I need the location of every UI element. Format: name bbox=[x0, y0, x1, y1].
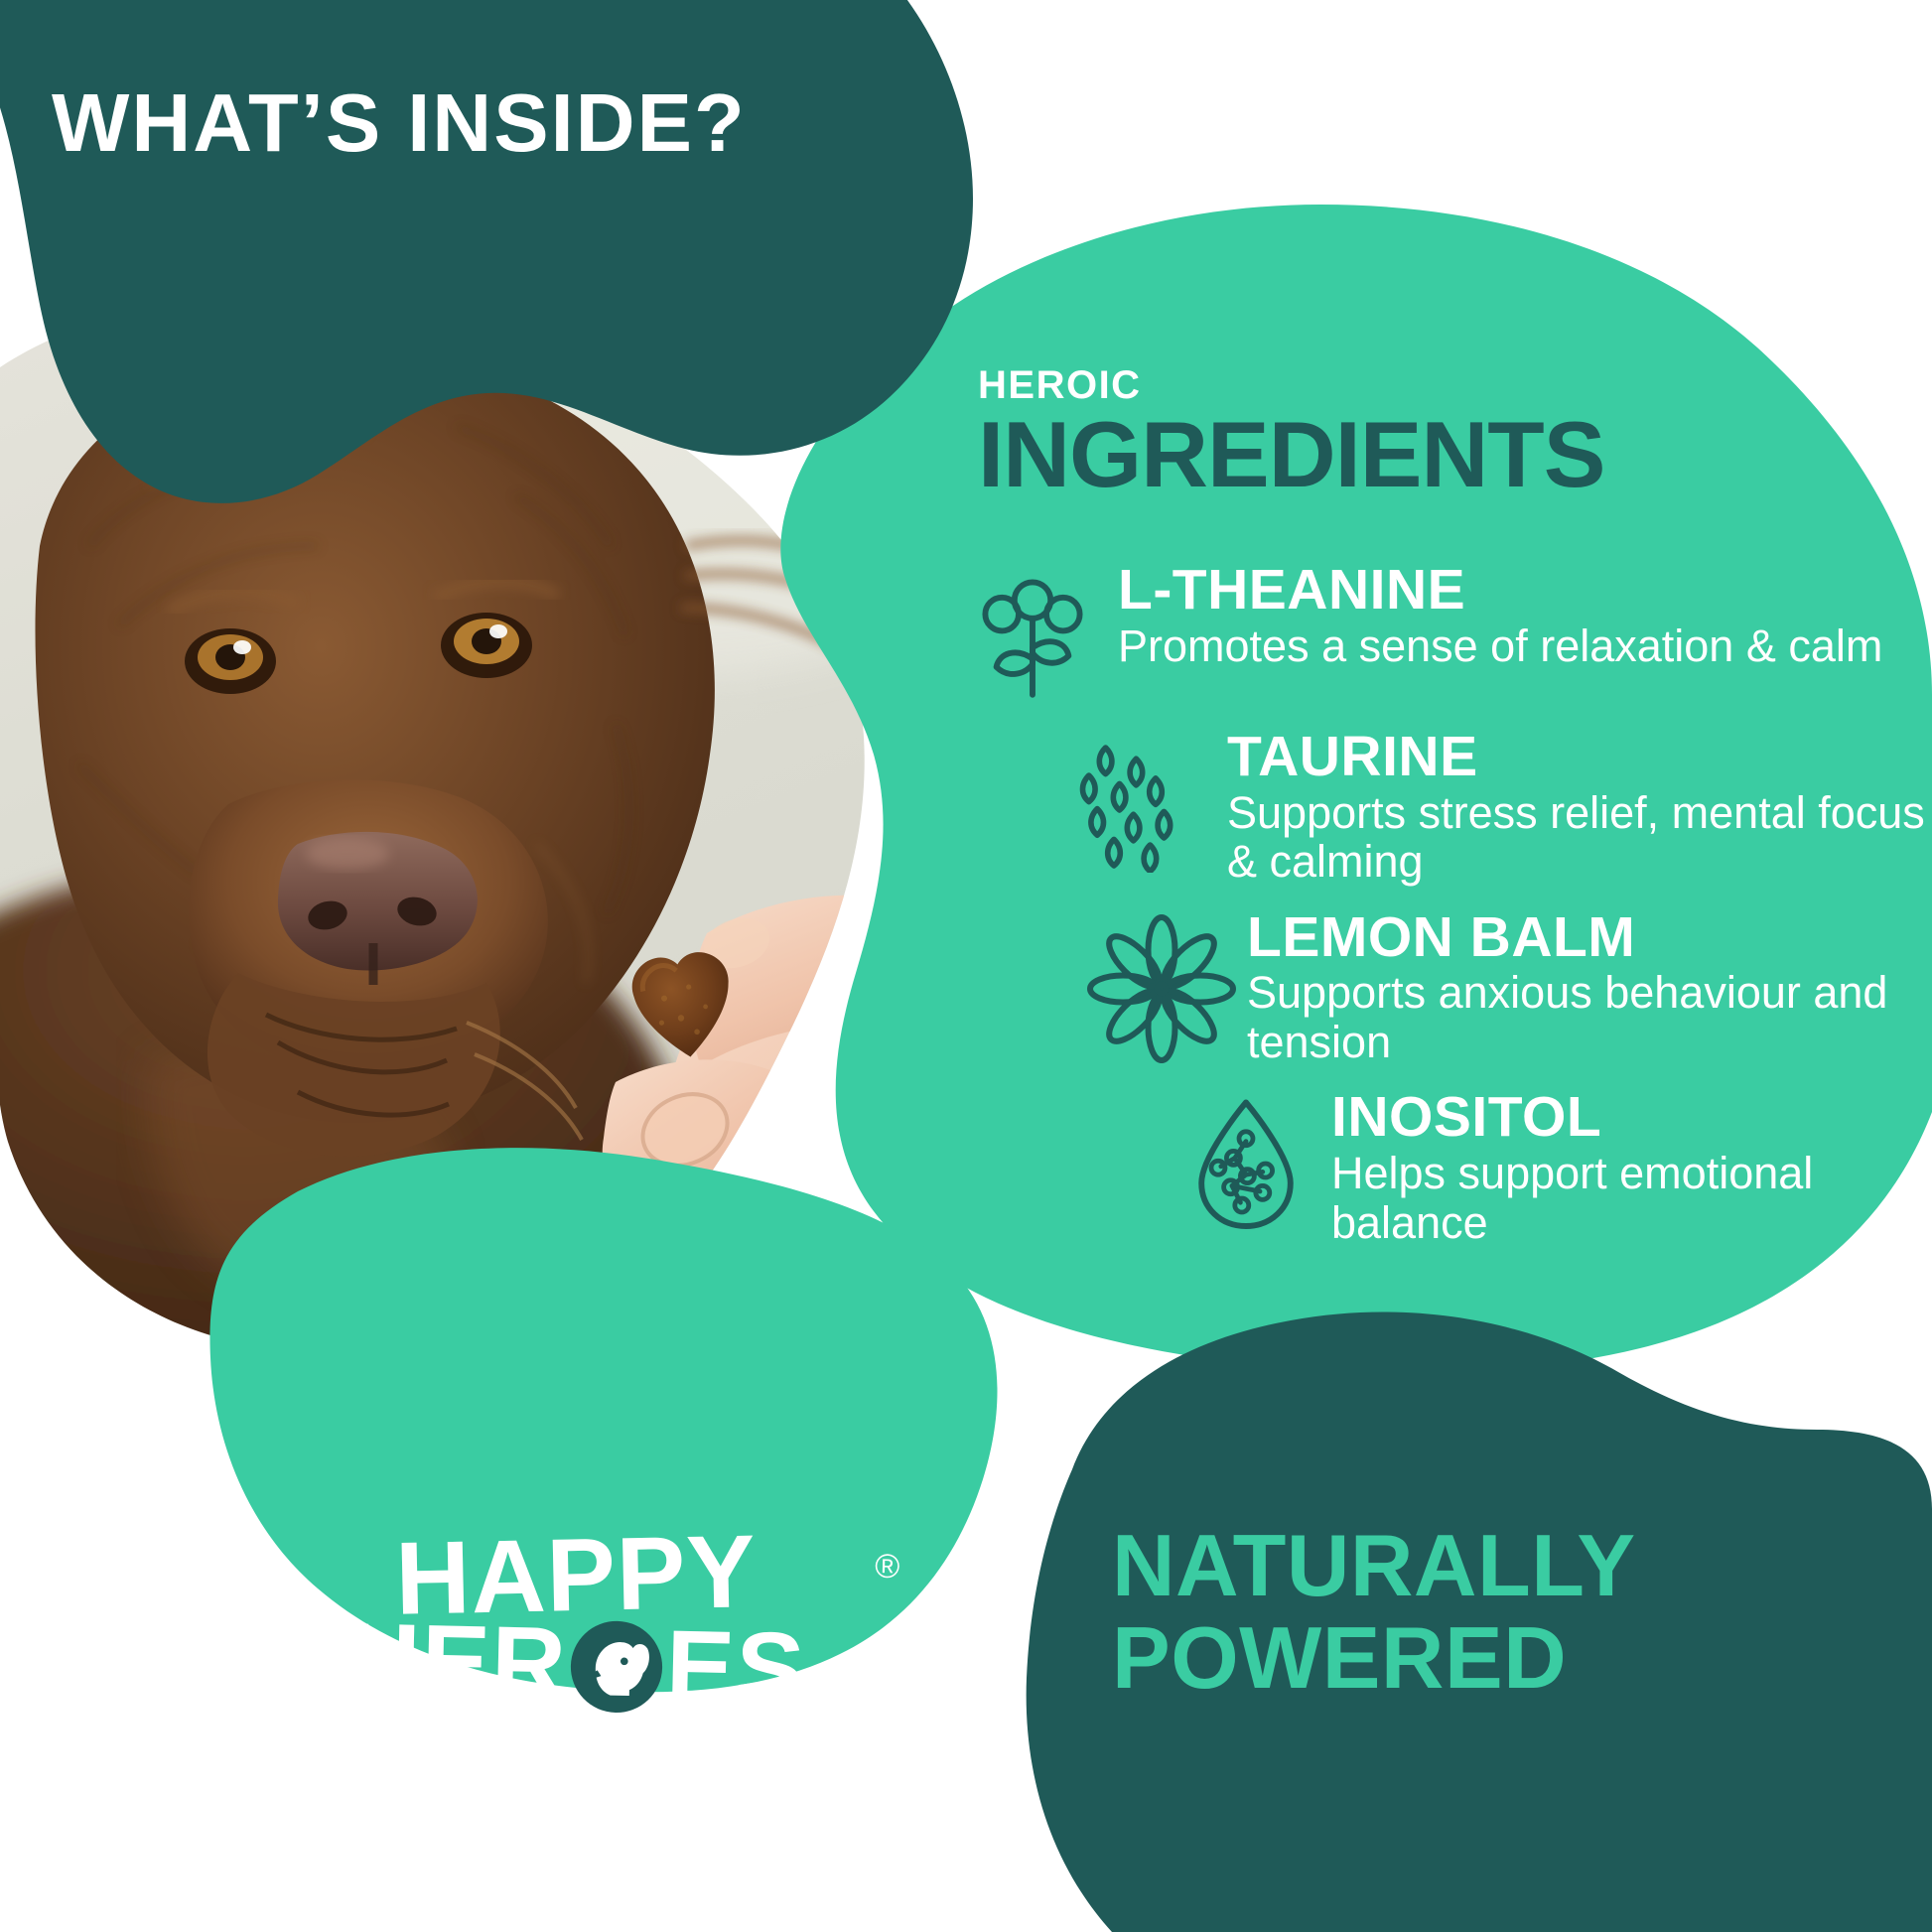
tagline-line-1: NATURALLY bbox=[1112, 1519, 1767, 1611]
tagline: NATURALLY POWERED bbox=[1112, 1519, 1767, 1705]
happy-heroes-logo: HAPPY HER ES ® bbox=[298, 1529, 854, 1714]
tagline-line-2: POWERED bbox=[1112, 1611, 1767, 1704]
dog-head-icon bbox=[568, 1618, 665, 1716]
logo-line-heroes: HER ES ® bbox=[297, 1611, 855, 1720]
logo-heroes-left: HER bbox=[345, 1613, 568, 1714]
logo-heroes-right: ES bbox=[665, 1620, 807, 1719]
registered-trademark-symbol: ® bbox=[875, 1551, 900, 1583]
infographic-canvas: WHAT’S INSIDE? HEROIC INGREDIENTS L-THEA… bbox=[0, 0, 1932, 1932]
